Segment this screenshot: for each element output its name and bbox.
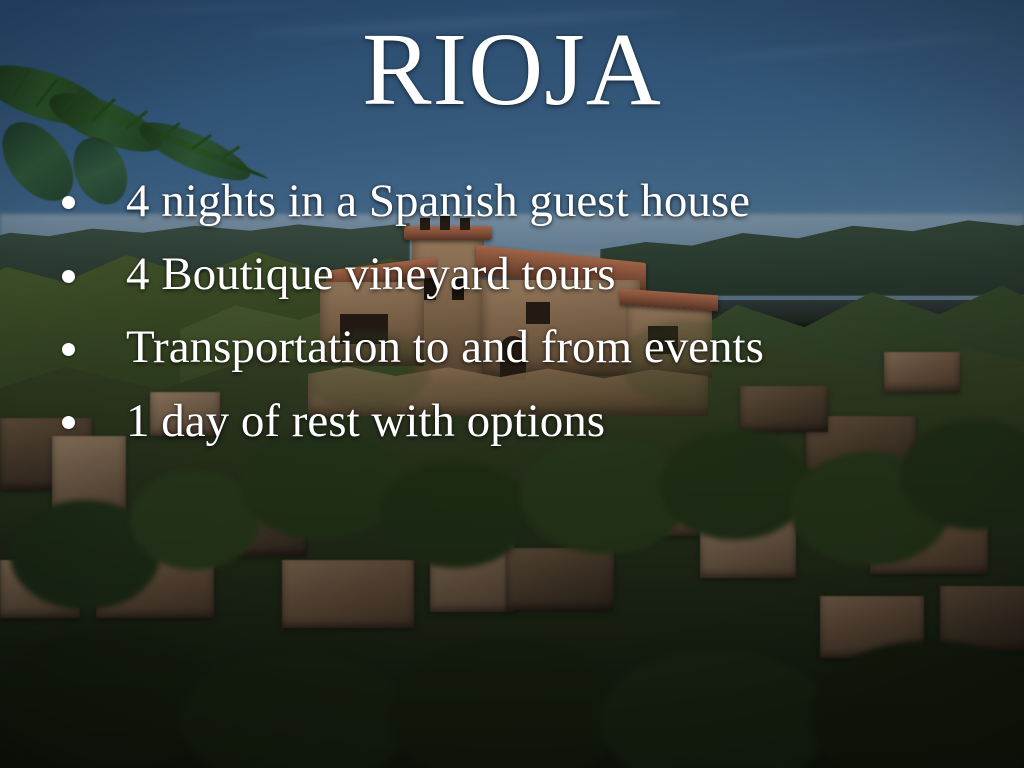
list-item: Transportation to and from events bbox=[48, 318, 978, 377]
list-item: 1 day of rest with options bbox=[48, 392, 978, 451]
bullet-list: 4 nights in a Spanish guest house 4 Bout… bbox=[48, 172, 978, 465]
slide-content: RIOJA 4 nights in a Spanish guest house … bbox=[0, 0, 1024, 768]
list-item-label: Transportation to and from events bbox=[126, 321, 764, 373]
list-item-label: 4 nights in a Spanish guest house bbox=[126, 175, 750, 227]
bullet-dot-icon bbox=[62, 270, 75, 283]
presentation-slide: RIOJA 4 nights in a Spanish guest house … bbox=[0, 0, 1024, 768]
list-item: 4 nights in a Spanish guest house bbox=[48, 172, 978, 231]
slide-title: RIOJA bbox=[0, 18, 1024, 122]
bullet-dot-icon bbox=[62, 343, 75, 356]
bullet-dot-icon bbox=[62, 416, 75, 429]
bullet-dot-icon bbox=[62, 196, 75, 209]
list-item-label: 1 day of rest with options bbox=[126, 395, 605, 447]
list-item-label: 4 Boutique vineyard tours bbox=[126, 248, 616, 300]
list-item: 4 Boutique vineyard tours bbox=[48, 245, 978, 304]
